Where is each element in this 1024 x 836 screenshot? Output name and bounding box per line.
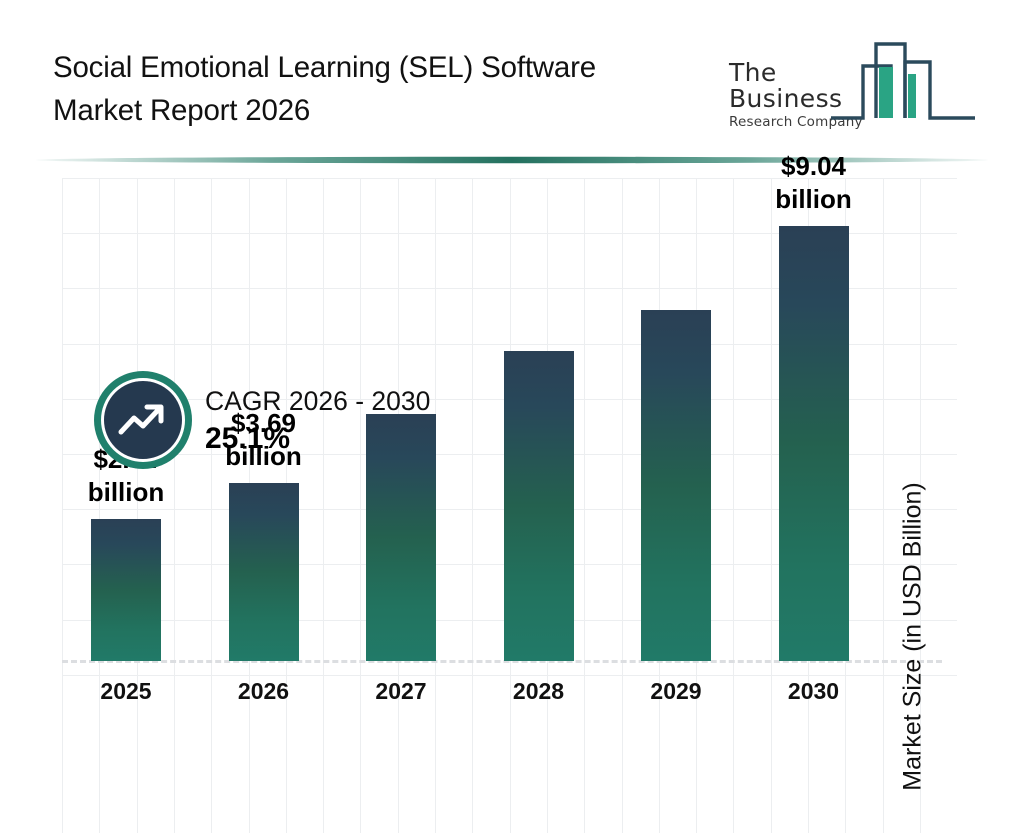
x-axis-tick-2029: 2029 [611,678,741,705]
bar-2029 [641,310,711,661]
cagr-badge: CAGR 2026 - 2030 25.1% [94,371,494,476]
bar-chart-outline-logo-mark [830,36,976,122]
page-title: Social Emotional Learning (SEL) Software… [53,46,713,132]
page-header: Social Emotional Learning (SEL) Software… [0,0,1024,150]
cagr-badge-circle [94,371,192,469]
x-axis-tick-2025: 2025 [61,678,191,705]
page-title-line-1: Social Emotional Learning (SEL) Software [53,46,713,89]
y-axis-title-text: Market Size (in USD Billion) [899,482,928,790]
cagr-text-block: CAGR 2026 - 2030 25.1% [205,384,430,458]
trending-up-arrow-icon [101,378,185,462]
cagr-value: 25.1% [205,420,430,458]
chart-plot-area: $2.94 billion2025$3.69 billion2026202720… [62,178,957,833]
bar-2028 [504,351,574,661]
x-axis-tick-2027: 2027 [336,678,466,705]
x-axis-tick-2028: 2028 [474,678,604,705]
x-axis-tick-2026: 2026 [199,678,329,705]
bar-value-label-2030: $9.04 billion [744,150,884,216]
x-axis-tick-2030: 2030 [749,678,879,705]
cagr-period-label: CAGR 2026 - 2030 [205,384,430,418]
page-title-line-2: Market Report 2026 [53,89,713,132]
y-axis-title: Market Size (in USD Billion) [893,436,933,836]
bar-2026 [229,483,299,661]
chart-page: Social Emotional Learning (SEL) Software… [0,0,1024,768]
bar-2030 [779,226,849,661]
company-logo: The Business Research Company [726,36,976,126]
chart-container: $2.94 billion2025$3.69 billion2026202720… [0,168,1024,768]
bar-2025 [91,519,161,661]
